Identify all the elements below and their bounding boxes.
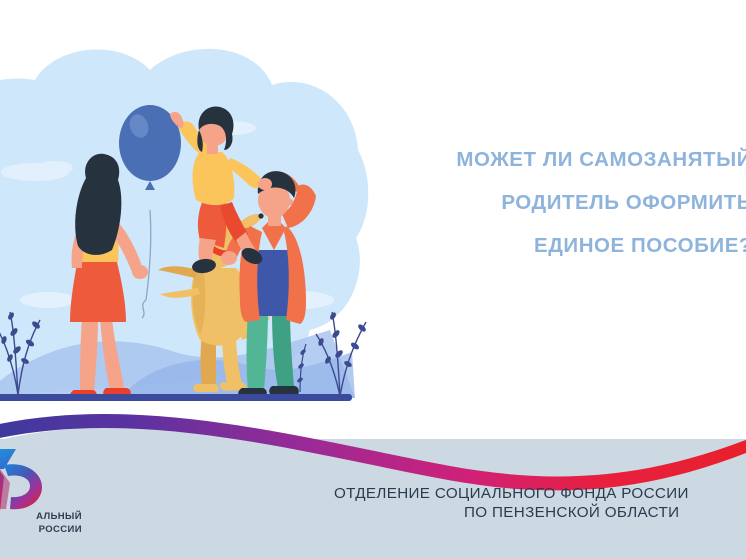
organization-caption: ОТДЕЛЕНИЕ СОЦИАЛЬНОГО ФОНДА РОССИИ ПО ПЕ… xyxy=(334,484,746,522)
sfr-logo: АЛЬНЫЙ РОССИИ xyxy=(0,443,120,553)
poster-canvas: МОЖЕТ ЛИ САМОЗАНЯТЫЙ РОДИТЕЛЬ ОФОРМИТЬ Е… xyxy=(0,0,746,559)
headline-line-3: ЕДИНОЕ ПОСОБИЕ? xyxy=(360,224,746,267)
headline-line-1: МОЖЕТ ЛИ САМОЗАНЯТЫЙ xyxy=(360,138,746,181)
ground-line xyxy=(0,394,352,401)
page-title: МОЖЕТ ЛИ САМОЗАНЯТЫЙ РОДИТЕЛЬ ОФОРМИТЬ Е… xyxy=(360,138,746,267)
logo-wordmark-line-2: РОССИИ xyxy=(0,524,82,537)
organization-caption-line-1: ОТДЕЛЕНИЕ СОЦИАЛЬНОГО ФОНДА РОССИИ xyxy=(334,484,746,503)
family-illustration xyxy=(0,0,380,405)
sfr-logo-wordmark: АЛЬНЫЙ РОССИИ xyxy=(0,511,120,536)
organization-caption-line-2: ПО ПЕНЗЕНСКОЙ ОБЛАСТИ xyxy=(334,503,746,522)
headline-line-2: РОДИТЕЛЬ ОФОРМИТЬ xyxy=(360,181,746,224)
logo-wordmark-line-1: АЛЬНЫЙ xyxy=(0,511,82,524)
sfr-logo-mark-icon xyxy=(0,443,66,515)
